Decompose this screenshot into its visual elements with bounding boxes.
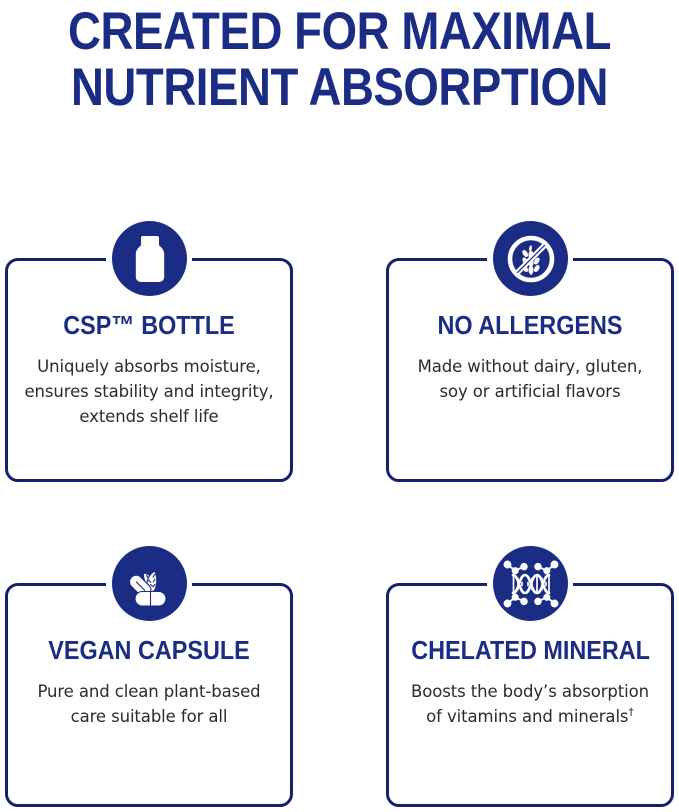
footnote-dagger: † bbox=[628, 706, 633, 719]
card-content: NO ALLERGENS Made without dairy, gluten,… bbox=[398, 310, 662, 404]
card-title: VEGAN CAPSULE bbox=[30, 635, 268, 665]
feature-card-grid: CSP™ BOTTLE Uniquely absorbs moisture, e… bbox=[0, 221, 679, 812]
card-title: CHELATED MINERAL bbox=[411, 635, 649, 665]
card-description: Pure and clean plant-based care suitable… bbox=[17, 679, 281, 729]
card-description-line: extends shelf life bbox=[79, 407, 218, 426]
card-description-line: Pure and clean plant-based bbox=[37, 682, 260, 701]
card-description-line: Boosts the body’s absorption bbox=[411, 682, 649, 701]
card-content: CHELATED MINERAL Boosts the body’s absor… bbox=[398, 635, 662, 729]
page-title-line-1: CREATED FOR MAXIMAL bbox=[48, 4, 632, 60]
no-allergens-wheat-prohibited-icon bbox=[493, 221, 568, 296]
card-description: Boosts the body’s absorption of vitamins… bbox=[398, 679, 662, 729]
page-title: CREATED FOR MAXIMAL NUTRIENT ABSORPTION bbox=[48, 0, 632, 116]
chelated-mineral-dna-molecule-icon bbox=[493, 546, 568, 621]
page-title-line-2: NUTRIENT ABSORPTION bbox=[48, 60, 632, 116]
vegan-capsule-leaf-icon bbox=[112, 546, 187, 621]
card-title: CSP™ BOTTLE bbox=[30, 310, 268, 340]
card-description-line: ensures stability and integrity, bbox=[24, 382, 273, 401]
feature-card-chelated-mineral: CHELATED MINERAL Boosts the body’s absor… bbox=[386, 583, 674, 807]
feature-card-csp-bottle: CSP™ BOTTLE Uniquely absorbs moisture, e… bbox=[5, 258, 293, 482]
card-description: Made without dairy, gluten, soy or artif… bbox=[398, 354, 662, 404]
supplement-bottle-icon bbox=[112, 221, 187, 296]
card-description-line: Made without dairy, gluten, bbox=[418, 357, 643, 376]
card-content: VEGAN CAPSULE Pure and clean plant-based… bbox=[17, 635, 281, 729]
feature-card-vegan-capsule: VEGAN CAPSULE Pure and clean plant-based… bbox=[5, 583, 293, 807]
feature-card-no-allergens: NO ALLERGENS Made without dairy, gluten,… bbox=[386, 258, 674, 482]
card-description-line: of vitamins and minerals bbox=[426, 707, 628, 726]
card-description-line: soy or artificial flavors bbox=[439, 382, 620, 401]
card-description: Uniquely absorbs moisture, ensures stabi… bbox=[17, 354, 281, 429]
card-title: NO ALLERGENS bbox=[411, 310, 649, 340]
card-content: CSP™ BOTTLE Uniquely absorbs moisture, e… bbox=[17, 310, 281, 429]
card-description-line: Uniquely absorbs moisture, bbox=[37, 357, 261, 376]
card-description-line: care suitable for all bbox=[71, 707, 228, 726]
